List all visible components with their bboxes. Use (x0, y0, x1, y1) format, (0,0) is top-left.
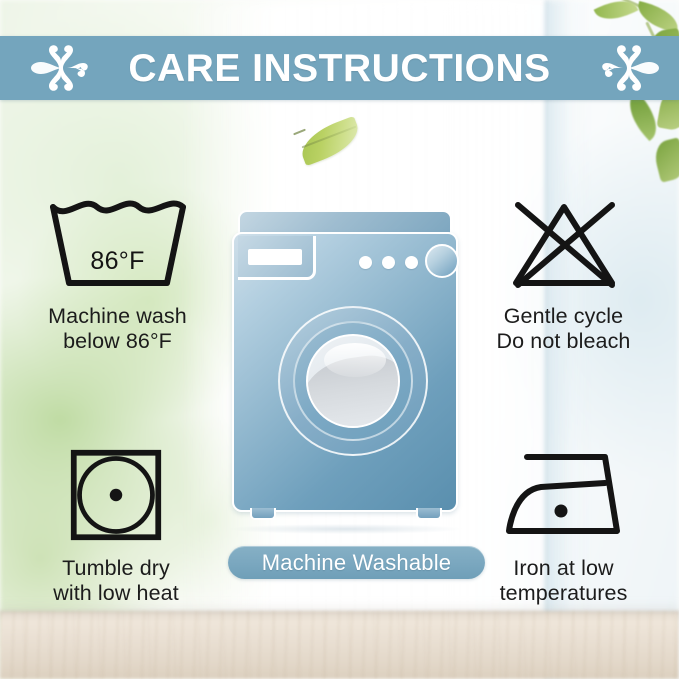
do-not-bleach-icon-wrap (448, 190, 679, 300)
control-indicator-1 (359, 256, 372, 269)
program-knob (425, 244, 459, 278)
machine-washable-badge-label: Machine Washable (262, 552, 451, 574)
care-instructions-infographic: CARE INSTRUCTIONS 86°F (0, 0, 679, 679)
page-title: CARE INSTRUCTIONS (116, 49, 562, 88)
control-indicator-2 (382, 256, 395, 269)
wash-temperature-value: 86°F (43, 247, 193, 276)
header-banner: CARE INSTRUCTIONS (0, 36, 679, 100)
control-indicator-3 (405, 256, 418, 269)
care-label-tumble-dry: Tumble dry with low heat (0, 556, 232, 606)
detergent-drawer-slot (248, 249, 302, 265)
iron-low-temperature-icon (499, 449, 629, 541)
care-label-do-not-bleach: Gentle cycle Do not bleach (448, 304, 679, 354)
washing-machine-door (278, 306, 428, 456)
door-inner-ring (293, 321, 413, 441)
care-label-machine-wash: Machine wash below 86°F (0, 304, 235, 354)
door-glass (306, 334, 400, 428)
door-glass-highlight (324, 343, 386, 377)
iron-icon-wrap (448, 440, 679, 550)
washing-machine-foot-right (416, 508, 442, 520)
washing-machine-illustration (232, 210, 458, 530)
washing-machine-foot-left (250, 508, 276, 520)
fleur-de-lis-icon-left (26, 45, 100, 91)
tumble-dry-icon-wrap (0, 440, 232, 550)
care-symbol-iron: Iron at low temperatures (448, 440, 679, 606)
care-symbol-machine-wash: 86°F Machine wash below 86°F (0, 190, 235, 354)
machine-washable-badge: Machine Washable (228, 546, 485, 579)
tumble-dry-low-icon (68, 447, 164, 543)
care-symbol-tumble-dry: Tumble dry with low heat (0, 440, 232, 606)
wooden-table-grain (0, 611, 679, 679)
fleur-de-lis-icon-right (590, 45, 664, 91)
wash-tub-icon: 86°F (43, 199, 193, 291)
care-symbol-do-not-bleach: Gentle cycle Do not bleach (448, 190, 679, 354)
wash-tub-icon-wrap: 86°F (0, 190, 235, 300)
do-not-bleach-triangle-icon (504, 199, 624, 291)
